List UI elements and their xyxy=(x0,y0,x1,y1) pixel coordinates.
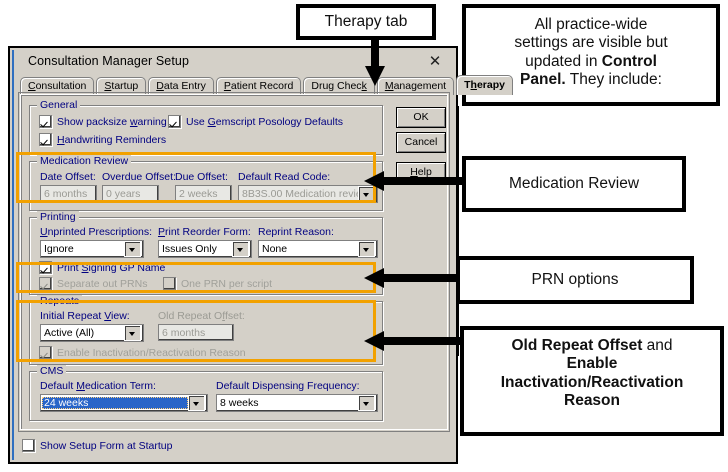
label-due-offset: Due Offset: xyxy=(175,171,228,183)
callout-prn-options-text: PRN options xyxy=(531,271,618,289)
group-cms-legend: CMS xyxy=(37,365,66,377)
arrow-to-prn-options xyxy=(364,267,464,289)
checkbox-box xyxy=(39,115,52,128)
checkbox-label: Separate out PRNs xyxy=(57,278,147,290)
group-repeats: Repeats Initial Repeat View: Old Repeat … xyxy=(29,301,383,365)
combo-value: Issues Only xyxy=(159,243,232,255)
checkbox-handwriting-reminders[interactable]: Handwriting Reminders xyxy=(39,133,166,146)
combo-default-medication-term[interactable]: 24 weeks xyxy=(40,394,208,412)
tab-patient-record[interactable]: Patient Record xyxy=(216,77,301,95)
checkbox-use-gemscript-posology-defaults[interactable]: Use Gemscript Posology Defaults xyxy=(168,115,343,128)
group-medication-review: Medication Review Date Offset: Overdue O… xyxy=(29,161,383,211)
field-overdue-offset[interactable]: 0 years xyxy=(102,185,159,202)
label-date-offset: Date Offset: xyxy=(40,171,96,183)
combo-value: 24 weeks xyxy=(42,397,188,409)
callout-old-repeat-line-2: Enable xyxy=(468,355,716,373)
callout-therapy-tab-text: Therapy tab xyxy=(325,13,408,31)
checkbox-one-prn-per-script[interactable]: One PRN per script xyxy=(163,277,272,290)
combo-reprint-reason[interactable]: None xyxy=(258,240,378,258)
combo-value: Active (All) xyxy=(41,327,124,339)
ok-button[interactable]: OK xyxy=(396,107,446,128)
combo-default-dispensing-frequency[interactable]: 8 weeks xyxy=(216,394,378,412)
group-cms: CMS Default Medication Term: Default Dis… xyxy=(29,371,383,421)
tab-data-entry[interactable]: Data Entry xyxy=(148,77,214,95)
callout-intro-line-3: updated in Control xyxy=(472,53,710,71)
dialog-title: Consultation Manager Setup xyxy=(28,54,189,68)
label-reprint-reason: Reprint Reason: xyxy=(258,226,334,238)
checkbox-label: Enable Inactivation/Reactivation Reason xyxy=(57,347,246,359)
checkbox-box xyxy=(168,115,181,128)
chevron-down-icon[interactable] xyxy=(232,241,249,257)
group-medication-review-legend: Medication Review xyxy=(37,155,131,167)
label-initial-repeat-view: Initial Repeat View: xyxy=(40,310,130,322)
arrow-to-medication-review xyxy=(364,170,464,192)
label-default-dispensing-frequency: Default Dispensing Frequency: xyxy=(216,380,360,392)
checkbox-box xyxy=(39,261,52,274)
checkbox-box xyxy=(22,439,35,452)
combo-value: 8 weeks xyxy=(217,397,358,409)
dialog-titlebar[interactable]: Consultation Manager Setup ✕ xyxy=(14,50,454,74)
checkbox-box xyxy=(39,133,52,146)
label-default-medication-term: Default Medication Term: xyxy=(40,380,156,392)
callout-old-repeat-line-1: Old Repeat Offset and xyxy=(468,337,716,355)
consultation-manager-setup-dialog: Consultation Manager Setup ✕ Consultatio… xyxy=(8,46,458,464)
combo-initial-repeat-view[interactable]: Active (All) xyxy=(40,324,144,342)
callout-medication-review-text: Medication Review xyxy=(509,175,639,193)
checkbox-show-packsize-warning[interactable]: Show packsize warning xyxy=(39,115,167,128)
group-printing: Printing Unprinted Prescriptions: Print … xyxy=(29,217,383,295)
field-old-repeat-offset[interactable]: 6 months xyxy=(158,324,234,341)
label-old-repeat-offset: Old Repeat Offset: xyxy=(158,310,245,322)
callout-old-repeat-offset: Old Repeat Offset and Enable Inactivatio… xyxy=(460,326,724,436)
checkbox-box xyxy=(39,346,52,359)
label-print-reorder-form: Print Reorder Form: xyxy=(158,226,251,238)
chevron-down-icon[interactable] xyxy=(124,325,141,341)
label-overdue-offset: Overdue Offset: xyxy=(102,171,176,183)
callout-old-repeat-line-4: Reason xyxy=(468,392,716,410)
label-default-read-code: Default Read Code: xyxy=(238,171,330,183)
cancel-button[interactable]: Cancel xyxy=(396,132,446,153)
combo-value: None xyxy=(259,243,358,255)
checkbox-label: One PRN per script xyxy=(181,278,272,290)
checkbox-enable-inactivation-reactivation-reason[interactable]: Enable Inactivation/Reactivation Reason xyxy=(39,346,246,359)
checkbox-separate-out-prns[interactable]: Separate out PRNs xyxy=(39,277,147,290)
chevron-down-icon[interactable] xyxy=(124,241,141,257)
label-unprinted-prescriptions: Unprinted Prescriptions: xyxy=(40,226,152,238)
therapy-tab-page: General Show packsize warning Use Gemscr… xyxy=(20,94,448,430)
field-date-offset[interactable]: 6 months xyxy=(40,185,97,202)
checkbox-box xyxy=(39,277,52,290)
combo-value: 8B3S.00 Medication review xyxy=(239,188,358,200)
checkbox-label: Use Gemscript Posology Defaults xyxy=(186,116,343,128)
chevron-down-icon[interactable] xyxy=(358,395,375,411)
callout-medication-review: Medication Review xyxy=(462,156,686,212)
arrow-to-therapy-tab xyxy=(364,36,386,86)
callout-prn-options: PRN options xyxy=(456,256,694,304)
checkbox-label: Print Signing GP Name xyxy=(57,262,165,274)
tab-therapy[interactable]: Therapy xyxy=(456,75,513,95)
annotation-connector-line xyxy=(456,106,459,356)
combo-print-reorder-form[interactable]: Issues Only xyxy=(158,240,252,258)
chevron-down-icon[interactable] xyxy=(188,395,205,411)
group-general-legend: General xyxy=(37,99,80,111)
chevron-down-icon[interactable] xyxy=(358,241,375,257)
checkbox-print-signing-gp-name[interactable]: Print Signing GP Name xyxy=(39,261,165,274)
checkbox-label: Show Setup Form at Startup xyxy=(40,440,172,452)
close-icon[interactable]: ✕ xyxy=(426,53,444,71)
combo-default-read-code[interactable]: 8B3S.00 Medication review xyxy=(238,185,378,203)
combo-unprinted-prescriptions[interactable]: Ignore xyxy=(40,240,144,258)
arrow-to-old-repeat-offset xyxy=(364,330,464,352)
field-due-offset[interactable]: 2 weeks xyxy=(175,185,232,202)
tab-consultation[interactable]: Consultation xyxy=(20,77,94,95)
group-repeats-legend: Repeats xyxy=(37,295,82,307)
tab-startup[interactable]: Startup xyxy=(96,77,146,95)
callout-intro-line-2: settings are visible but xyxy=(472,34,710,52)
callout-old-repeat-line-3: Inactivation/Reactivation xyxy=(468,374,716,392)
dialog-body: Consultation Manager Setup ✕ Consultatio… xyxy=(12,50,454,460)
checkbox-box xyxy=(163,277,176,290)
callout-intro-line-1: All practice-wide xyxy=(472,16,710,34)
checkbox-label: Show packsize warning xyxy=(57,116,167,128)
checkbox-show-setup-form-at-startup[interactable]: Show Setup Form at Startup xyxy=(22,439,172,452)
group-general: General Show packsize warning Use Gemscr… xyxy=(29,105,383,155)
combo-value: Ignore xyxy=(41,243,124,255)
callout-therapy-tab: Therapy tab xyxy=(296,4,436,40)
group-printing-legend: Printing xyxy=(37,211,79,223)
tab-management[interactable]: Management xyxy=(377,77,454,95)
checkbox-label: Handwriting Reminders xyxy=(57,134,166,146)
